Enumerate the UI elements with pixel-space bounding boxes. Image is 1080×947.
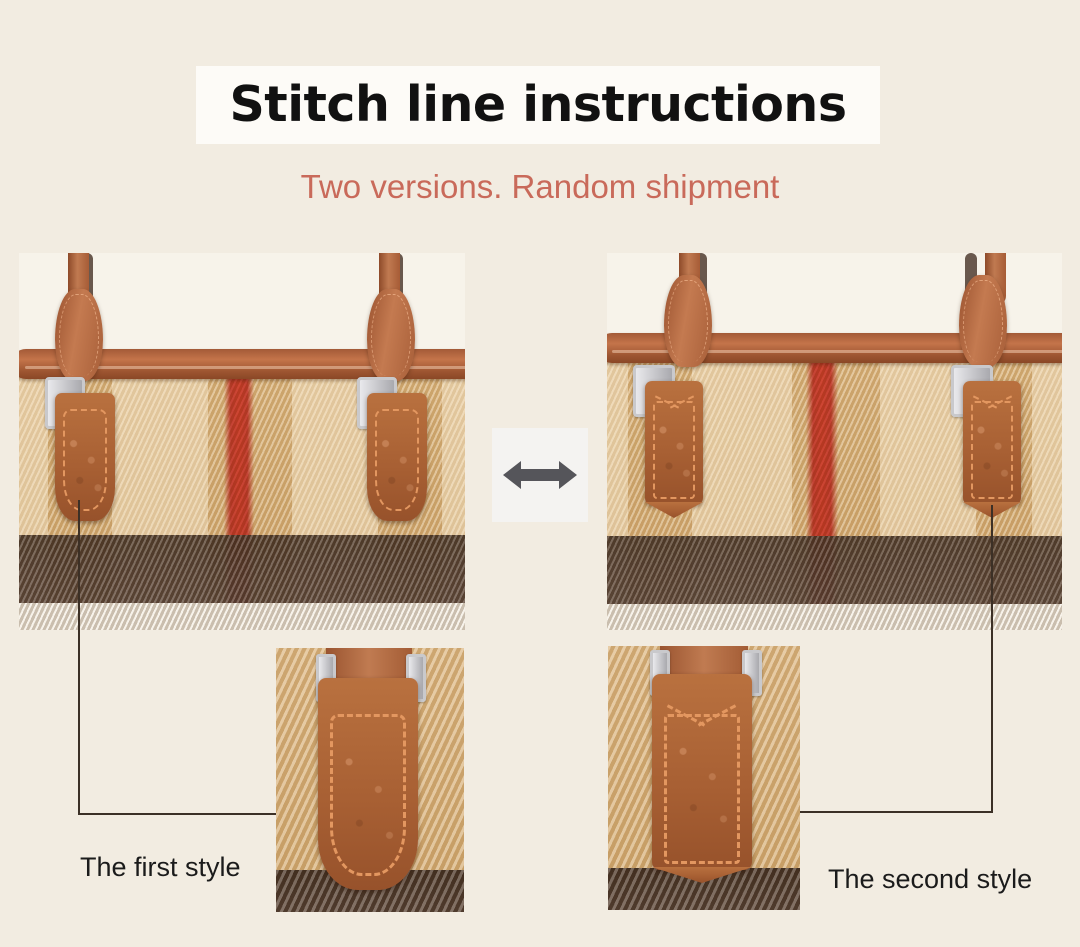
- page-title: Stitch line instructions: [196, 66, 880, 144]
- double-arrow-horizontal-icon: [492, 428, 588, 522]
- pull-tab-first-style: [367, 393, 427, 521]
- inset-stitch-outline-chevron: [664, 714, 740, 864]
- inset-pull-tab-second-style: [652, 674, 752, 870]
- stitch-outline-chevron: [653, 401, 695, 499]
- leader-line-vertical-first: [78, 500, 80, 815]
- product-infographic: Stitch line instructions Two versions. R…: [0, 0, 1080, 947]
- handle-anchor: [55, 289, 103, 381]
- plaid-dark-band: [607, 536, 1062, 604]
- inset-pull-tab-first-style: [318, 678, 418, 890]
- handle-anchor: [959, 275, 1007, 367]
- pull-tab-second-style: [645, 381, 703, 505]
- handbag-photo-second-style: [607, 253, 1062, 630]
- page-subtitle: Two versions. Random shipment: [0, 168, 1080, 206]
- detail-inset-second-style: [608, 646, 800, 910]
- stitch-outline-chevron: [971, 401, 1013, 499]
- leader-line-vertical-second: [991, 505, 993, 813]
- leader-line-horizontal-first: [78, 813, 278, 815]
- handle-anchor: [367, 289, 415, 381]
- handle-anchor: [664, 275, 712, 367]
- caption-first-style: The first style: [80, 852, 241, 883]
- handbag-photo-first-style: [19, 253, 465, 630]
- leader-line-horizontal-second: [798, 811, 993, 813]
- pull-tab-first-style: [55, 393, 115, 521]
- pull-tab-second-style: [963, 381, 1021, 505]
- detail-inset-first-style: [276, 648, 464, 912]
- plaid-dark-band: [19, 535, 465, 603]
- caption-second-style: The second style: [828, 864, 1032, 895]
- plaid-cream-band: [607, 604, 1062, 630]
- stitch-outline-rounded: [63, 409, 107, 511]
- stitch-outline-rounded: [375, 409, 419, 511]
- inset-stitch-outline-rounded: [330, 714, 406, 876]
- plaid-cream-band: [19, 603, 465, 630]
